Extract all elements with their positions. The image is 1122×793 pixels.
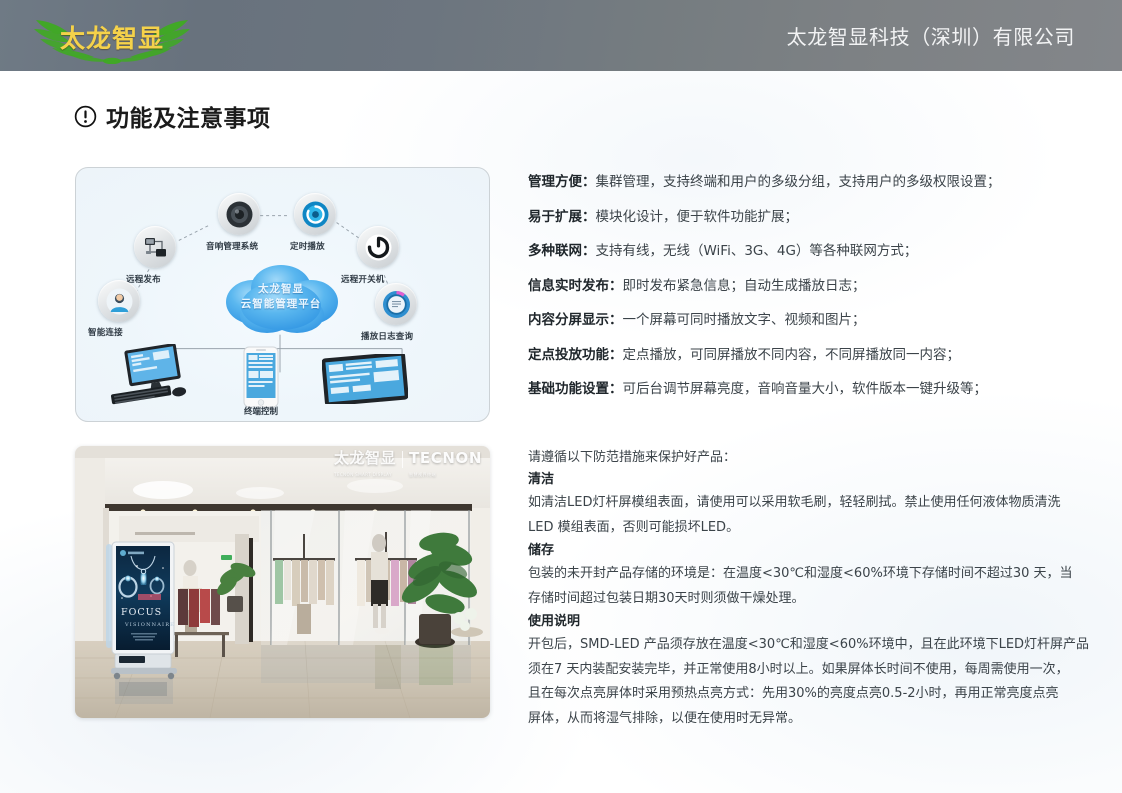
photo-watermark-en-sub: 智慧视界终端 <box>409 467 482 482</box>
care-section: 储存 包装的未开封产品存储的环境是：在温度<30℃和湿度<60%环境下存储时间不… <box>528 540 1090 610</box>
feature-item: 易于扩展：模块化设计，便于软件功能扩展； <box>528 209 1088 226</box>
feature-text: 定点播放，可同屏播放不同内容，不同屏播放同一内容； <box>623 347 961 363</box>
care-heading: 清洁 <box>528 469 1090 491</box>
photo-watermark-cn-text: 太龙智显 <box>334 449 396 467</box>
diagram-node-label: 智能连接 <box>88 326 123 338</box>
cloud-label-line2: 云智能管理平台 <box>217 297 345 312</box>
photo-watermark-cn: 太龙智显 TECNON SMART DISPLAY <box>334 451 396 482</box>
page-root: 太龙智显 太龙智显科技（深圳）有限公司 太龙智显 TECNON 太龙智显 TEC… <box>0 0 1122 793</box>
photo-watermark: 太龙智显 TECNON SMART DISPLAY TECNON 智慧视界终端 <box>334 451 482 482</box>
speaker-icon <box>226 201 253 228</box>
diagram-node-audio-system[interactable] <box>218 193 260 235</box>
diagram-node-smart-connect[interactable] <box>98 280 140 322</box>
cloud-platform-node[interactable]: 太龙智显 云智能管理平台 <box>217 260 345 336</box>
desktop-pc-icon[interactable] <box>106 344 196 406</box>
diagram-node-label: 播放日志查询 <box>361 330 413 342</box>
feature-text: 一个屏幕可同时播放文字、视频和图片； <box>623 312 866 328</box>
feature-list: 管理方便：集群管理，支持终端和用户的多级分组，支持用户的多级权限设置； 易于扩展… <box>528 174 1088 416</box>
care-instructions: 请遵循以下防范措施来保护好产品： 清洁 如清洁LED灯杆屏模组表面，请使用可以采… <box>528 447 1090 731</box>
care-line: 屏体，从而将湿气排除，以便在使用时无异常。 <box>528 707 1090 731</box>
user-connect-icon <box>106 288 133 315</box>
care-line: LED 模组表面，否则可能损坏LED。 <box>528 516 1090 540</box>
section-title: 功能及注意事项 <box>74 99 271 133</box>
feature-text: 可后台调节屏幕亮度，音响音量大小，软件版本一键升级等； <box>623 381 988 397</box>
feature-item: 基础功能设置：可后台调节屏幕亮度，音响音量大小，软件版本一键升级等； <box>528 381 1088 398</box>
feature-item: 信息实时发布：即时发布紧急信息；自动生成播放日志； <box>528 278 1088 295</box>
clock-timer-icon <box>302 201 329 228</box>
photo-watermark-en-text: TECNON <box>409 449 482 467</box>
logo-text: 太龙智显 <box>28 19 196 55</box>
feature-item: 内容分屏显示：一个屏幕可同时播放文字、视频和图片； <box>528 312 1088 329</box>
photo-watermark-en: TECNON 智慧视界终端 <box>409 451 482 482</box>
feature-text: 支持有线，无线（WiFi、3G、4G）等各种联网方式； <box>596 243 918 259</box>
feature-item: 多种联网：支持有线，无线（WiFi、3G、4G）等各种联网方式； <box>528 243 1088 260</box>
photo-watermark-cn-sub: TECNON SMART DISPLAY <box>334 467 396 482</box>
care-line: 且在每次点亮屏体时采用预热点亮方式：先用30%的亮度点亮0.5-2小时，再用正常… <box>528 682 1090 706</box>
care-heading: 使用说明 <box>528 611 1090 633</box>
diagram-node-remote-power[interactable] <box>357 226 399 268</box>
care-lead: 请遵循以下防范措施来保护好产品： <box>528 447 1090 468</box>
power-button-icon <box>365 234 392 261</box>
care-line: 存储时间超过包装日期30天时则须做干燥处理。 <box>528 587 1090 611</box>
network-publish-icon <box>142 234 169 261</box>
care-line: 开包后，SMD-LED 产品须存放在温度<30℃和湿度<60%环境中，且在此环境… <box>528 633 1090 657</box>
feature-title: 内容分屏显示： <box>528 312 623 328</box>
care-line: 须在7 天内装配安装完毕，并正常使用8小时以上。如果屏体长时间不使用，每周需使用… <box>528 658 1090 682</box>
cloud-label: 太龙智显 云智能管理平台 <box>217 282 345 312</box>
diagram-node-remote-publish[interactable] <box>134 226 176 268</box>
care-section: 使用说明 开包后，SMD-LED 产品须存放在温度<30℃和湿度<60%环境中，… <box>528 611 1090 730</box>
storefront-photo: FOCUS VISIONNAIRE <box>75 446 490 718</box>
care-section: 清洁 如清洁LED灯杆屏模组表面，请使用可以采用软毛刷，轻轻刷拭。禁止使用任何液… <box>528 469 1090 539</box>
care-line: 如清洁LED灯杆屏模组表面，请使用可以采用软毛刷，轻轻刷拭。禁止使用任何液体物质… <box>528 491 1090 515</box>
feature-title: 信息实时发布： <box>528 278 623 294</box>
exclamation-circle-icon <box>74 105 97 128</box>
feature-title: 基础功能设置： <box>528 381 623 397</box>
care-heading: 储存 <box>528 540 1090 562</box>
device-group-label: 终端控制 <box>215 405 307 417</box>
feature-text: 模块化设计，便于软件功能扩展； <box>596 209 799 225</box>
feature-title: 定点投放功能： <box>528 347 623 363</box>
feature-title: 易于扩展： <box>528 209 596 225</box>
architecture-diagram-panel: 音响管理系统 定时播放 <box>75 167 490 422</box>
diagram-node-label: 定时播放 <box>290 240 325 252</box>
company-logo: 太龙智显 <box>28 6 196 64</box>
diagram-node-label: 远程开关机 <box>341 273 385 285</box>
donut-chart-icon <box>383 291 410 318</box>
feature-item: 定点投放功能：定点播放，可同屏播放不同内容，不同屏播放同一内容； <box>528 347 1088 364</box>
cloud-label-line1: 太龙智显 <box>217 282 345 297</box>
feature-title: 管理方便： <box>528 174 596 190</box>
svg-text:FOCUS: FOCUS <box>121 607 162 618</box>
care-line: 包装的未开封产品存储的环境是：在温度<30℃和湿度<60%环境下存储时间不超过3… <box>528 562 1090 586</box>
svg-text:VISIONNAIRE: VISIONNAIRE <box>124 622 175 628</box>
diagram-node-play-log-query[interactable] <box>375 283 417 325</box>
storefront-photo-image: FOCUS VISIONNAIRE <box>75 446 490 718</box>
section-title-text: 功能及注意事项 <box>106 99 271 133</box>
digital-signage-kiosk: FOCUS VISIONNAIRE <box>106 542 177 704</box>
page-header: 太龙智显 太龙智显科技（深圳）有限公司 <box>0 0 1122 71</box>
diagram-node-scheduled-play[interactable] <box>294 193 336 235</box>
feature-item: 管理方便：集群管理，支持终端和用户的多级分组，支持用户的多级权限设置； <box>528 174 1088 191</box>
feature-text: 即时发布紧急信息；自动生成播放日志； <box>623 278 866 294</box>
photo-watermark-divider <box>402 451 403 468</box>
diagram-node-label: 音响管理系统 <box>206 240 258 252</box>
smartphone-icon[interactable] <box>243 346 279 408</box>
feature-text: 集群管理，支持终端和用户的多级分组，支持用户的多级权限设置； <box>596 174 1001 190</box>
company-name: 太龙智显科技（深圳）有限公司 <box>787 21 1075 50</box>
tablet-icon[interactable] <box>322 354 408 404</box>
feature-title: 多种联网： <box>528 243 596 259</box>
